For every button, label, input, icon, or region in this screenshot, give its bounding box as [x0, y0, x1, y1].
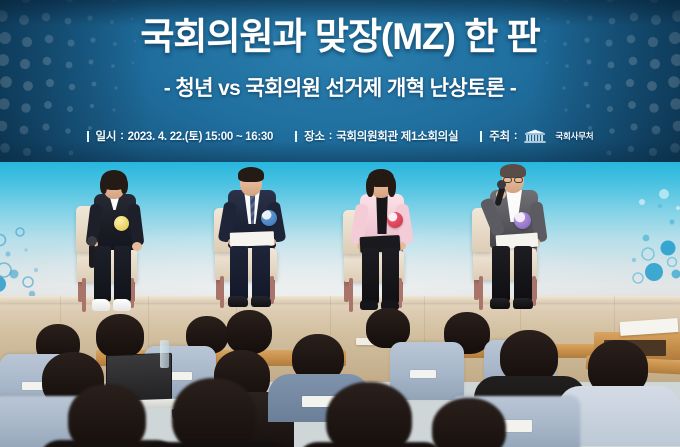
name-badge — [514, 212, 531, 229]
panelist-hair-side — [388, 177, 396, 197]
info-divider-icon — [87, 131, 89, 142]
panelist-hair-side — [100, 178, 107, 194]
panelist-hand — [132, 242, 142, 251]
audience-area — [0, 300, 680, 447]
info-datetime-label: 일시 — [96, 128, 117, 144]
water-bottle — [160, 340, 169, 368]
backdrop-dot-decor-right — [576, 186, 680, 306]
panelist-leg — [114, 246, 131, 302]
panelist-leg — [514, 246, 532, 302]
event-photo: 국회의원과 맞장(MZ) 한 판 - 청년 vs 국회의원 선거제 개혁 난상토… — [0, 0, 680, 447]
info-venue-value: 국회의원회관 제1소회의실 — [336, 128, 458, 144]
microphone-head — [87, 236, 97, 246]
audience-head-front — [326, 382, 412, 447]
info-venue-label: 장소 — [304, 128, 325, 144]
panelist-leg — [94, 246, 111, 302]
audience-head-front — [68, 384, 146, 447]
panelist-leg — [382, 248, 399, 304]
info-colon: : — [120, 130, 124, 142]
event-title: 국회의원과 맞장(MZ) 한 판 — [0, 6, 680, 60]
info-colon: : — [514, 130, 518, 142]
info-datetime-value: 2023. 4. 22.(토) 15:00 ~ 16:30 — [128, 128, 273, 144]
audience-shoulders-front — [296, 442, 446, 447]
microphone-head — [497, 180, 506, 189]
audience-shoulders-front — [140, 442, 290, 447]
panelist-leg — [362, 248, 379, 304]
panelist-leg — [230, 246, 248, 300]
audience-head — [96, 314, 144, 358]
info-organizer-value: 국회사무처 — [555, 130, 593, 142]
name-badge — [387, 212, 403, 228]
info-divider-icon — [295, 131, 297, 142]
info-datetime: 일시 : 2023. 4. 22.(토) 15:00 ~ 16:30 — [87, 128, 274, 144]
seat-number-tag — [410, 370, 436, 378]
info-divider-icon — [480, 131, 482, 142]
document-paper — [230, 231, 274, 247]
info-venue: 장소 : 국회의원회관 제1소회의실 — [295, 128, 458, 144]
panelist-leg — [492, 246, 510, 302]
name-badge — [114, 216, 129, 231]
name-badge — [261, 210, 277, 226]
eyeglasses-icon — [514, 177, 523, 183]
panelist-hair-side — [366, 177, 374, 197]
event-subtitle: - 청년 vs 국회의원 선거제 개혁 난상토론 - — [0, 72, 680, 102]
info-organizer-label: 주최 — [489, 128, 510, 144]
audience-head — [226, 310, 272, 354]
info-organizer: 주최 : 국회사무처 — [480, 128, 593, 144]
event-info-bar: 일시 : 2023. 4. 22.(토) 15:00 ~ 16:30 장소 : … — [0, 128, 680, 144]
panelist-hair — [238, 167, 264, 182]
audience-head-front — [432, 398, 506, 447]
parliament-building-icon — [522, 129, 548, 143]
audience-head-front — [172, 378, 256, 447]
event-banner: 국회의원과 맞장(MZ) 한 판 - 청년 vs 국회의원 선거제 개혁 난상토… — [0, 0, 680, 162]
info-colon: : — [329, 130, 333, 142]
panelist-leg — [252, 246, 270, 300]
panelist-hair — [500, 164, 526, 178]
panelist-hair-side — [121, 178, 128, 194]
